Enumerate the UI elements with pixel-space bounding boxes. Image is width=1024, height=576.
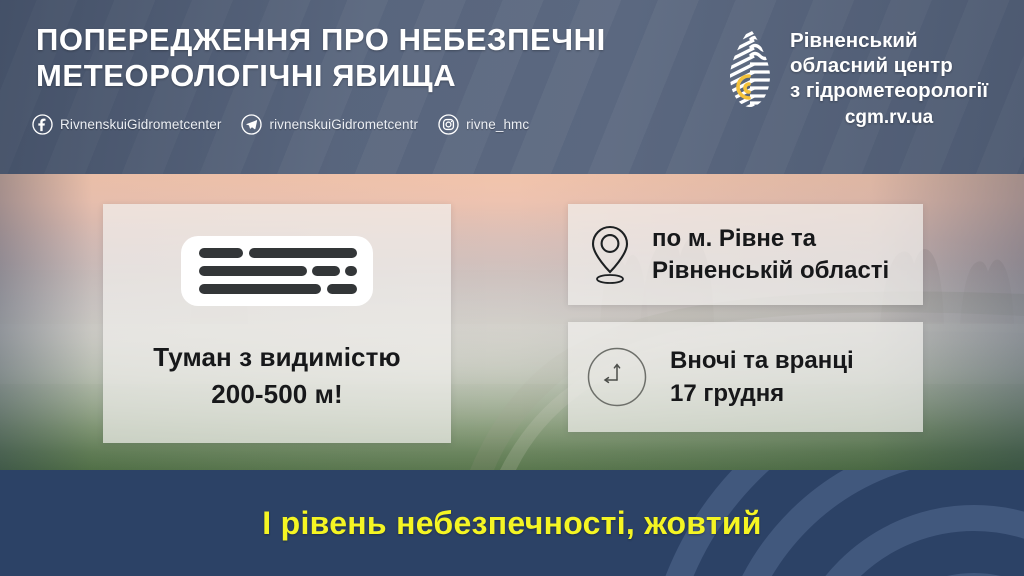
time-text-line-1: Вночі та вранці xyxy=(670,344,854,377)
time-text-line-2: 17 грудня xyxy=(670,377,854,410)
brand-line-1: Рівненський xyxy=(790,28,988,53)
weather-warning-poster: ПОПЕРЕДЖЕННЯ ПРО НЕБЕЗПЕЧНІ МЕТЕОРОЛОГІЧ… xyxy=(0,0,1024,576)
brand-line-3: з гідрометеорології xyxy=(790,78,988,103)
hazard-caption: Туман з видимістю 200-500 м! xyxy=(153,339,400,413)
location-text-line-1: по м. Рівне та xyxy=(652,223,889,255)
fog-icon xyxy=(181,236,373,306)
social-link-instagram[interactable]: rivne_hmc xyxy=(438,114,529,135)
map-pin-icon xyxy=(590,224,630,286)
water-droplet-logo-icon xyxy=(724,26,776,110)
telegram-icon xyxy=(241,114,262,135)
hazard-caption-line-1: Туман з видимістю xyxy=(153,339,400,376)
instagram-handle: rivne_hmc xyxy=(466,117,529,132)
telegram-handle: rivnenskuiGidrometcentr xyxy=(269,117,418,132)
brand-url[interactable]: cgm.rv.ua xyxy=(790,105,988,130)
brand-text: Рівненський обласний центр з гідрометеор… xyxy=(790,26,988,130)
page-title: ПОПЕРЕДЖЕННЯ ПРО НЕБЕЗПЕЧНІ МЕТЕОРОЛОГІЧ… xyxy=(36,22,606,94)
danger-level-banner: І рівень небезпечності, жовтий xyxy=(0,470,1024,576)
social-link-facebook[interactable]: RivnenskuiGidrometcenter xyxy=(32,114,221,135)
social-link-telegram[interactable]: rivnenskuiGidrometcentr xyxy=(241,114,418,135)
location-text: по м. Рівне та Рівненській області xyxy=(652,223,889,287)
hazard-card: Туман з видимістю 200-500 м! xyxy=(103,204,451,443)
brand-block[interactable]: Рівненський обласний центр з гідрометеор… xyxy=(724,26,988,130)
hazard-caption-line-2: 200-500 м! xyxy=(153,376,400,413)
instagram-icon xyxy=(438,114,459,135)
facebook-handle: RivnenskuiGidrometcenter xyxy=(60,117,221,132)
location-text-line-2: Рівненській області xyxy=(652,255,889,287)
title-line-1: ПОПЕРЕДЖЕННЯ ПРО НЕБЕЗПЕЧНІ xyxy=(36,22,606,58)
facebook-icon xyxy=(32,114,53,135)
header-banner: ПОПЕРЕДЖЕННЯ ПРО НЕБЕЗПЕЧНІ МЕТЕОРОЛОГІЧ… xyxy=(0,0,1024,174)
footer-banner: І рівень небезпечності, жовтий xyxy=(0,470,1024,576)
main-content-area: Туман з видимістю 200-500 м! по м. Рівне… xyxy=(0,174,1024,470)
time-text: Вночі та вранці 17 грудня xyxy=(670,344,854,410)
brand-line-2: обласний центр xyxy=(790,53,988,78)
title-line-2: МЕТЕОРОЛОГІЧНІ ЯВИЩА xyxy=(36,58,606,94)
social-links: RivnenskuiGidrometcenter rivnenskuiGidro… xyxy=(32,114,529,135)
clock-icon xyxy=(586,346,648,408)
location-card: по м. Рівне та Рівненській області xyxy=(568,204,923,305)
time-card: Вночі та вранці 17 грудня xyxy=(568,322,923,432)
